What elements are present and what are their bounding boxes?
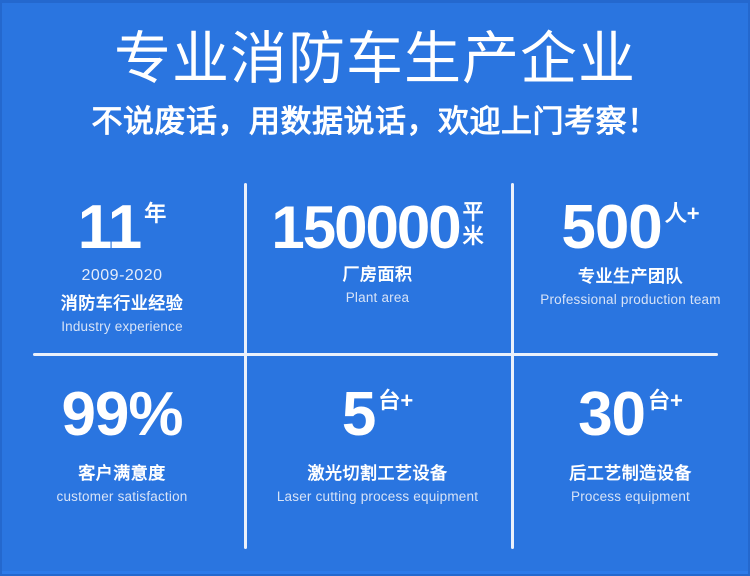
stat-cell-plant-area: 150000 平 米 厂房面积 Plant area — [244, 183, 511, 354]
stat-unit: 年 — [144, 202, 166, 225]
stat-unit: 平 米 — [463, 201, 484, 248]
stat-cell-industry-experience: 11 年 2009-2020 消防车行业经验 Industry experien… — [0, 183, 244, 354]
poster-header: 专业消防车生产企业 不说废话，用数据说话，欢迎上门考察！ — [0, 0, 750, 140]
stat-unit-line2: 米 — [463, 225, 484, 249]
stat-label-en: Process equipment — [571, 489, 690, 504]
stat-label-cn: 专业生产团队 — [578, 262, 683, 287]
stat-unit: 人+ — [665, 202, 700, 225]
stat-value: 11 — [78, 199, 142, 258]
stat-figure: 11 年 — [78, 199, 167, 258]
stat-label-cn: 后工艺制造设备 — [569, 459, 692, 484]
stat-label-cn: 消防车行业经验 — [61, 289, 184, 314]
stat-label-en: Laser cutting process equipment — [277, 489, 478, 504]
stat-label-en: Plant area — [346, 290, 410, 305]
stat-figure: 30 台+ — [578, 386, 683, 445]
stat-cell-customer-satisfaction: 99% 客户满意度 customer satisfaction — [0, 354, 244, 549]
stat-value: 500 — [561, 199, 661, 258]
promo-poster: 专业消防车生产企业 不说废话，用数据说话，欢迎上门考察！ 11 年 2009-2… — [0, 0, 750, 576]
bottom-edge-band — [0, 571, 750, 576]
stat-figure: 150000 平 米 — [271, 199, 483, 256]
stat-figure: 5 台+ — [342, 386, 413, 445]
stat-value: 150000 — [271, 199, 459, 256]
stat-label-en: customer satisfaction — [57, 489, 188, 504]
stat-value: 30 — [578, 386, 645, 445]
stat-figure: 500 人+ — [561, 199, 699, 258]
stat-unit: 台+ — [648, 389, 683, 412]
stat-note: 2009-2020 — [81, 267, 162, 285]
stat-figure: 99% — [61, 386, 182, 445]
stat-cell-production-team: 500 人+ 专业生产团队 Professional production te… — [511, 183, 750, 354]
stat-unit-line1: 平 — [463, 201, 484, 225]
stat-label-en: Industry experience — [61, 319, 183, 334]
stat-unit: 台+ — [378, 389, 413, 412]
stat-label-en: Professional production team — [540, 292, 720, 307]
stat-label-cn: 客户满意度 — [78, 459, 166, 484]
stat-value: 5 — [342, 386, 375, 445]
stat-cell-process-equipment: 30 台+ 后工艺制造设备 Process equipment — [511, 354, 750, 549]
stat-label-cn: 激光切割工艺设备 — [308, 459, 448, 484]
stat-cell-laser-cutting-equipment: 5 台+ 激光切割工艺设备 Laser cutting process equi… — [244, 354, 511, 549]
stats-grid: 11 年 2009-2020 消防车行业经验 Industry experien… — [0, 183, 750, 549]
page-subtitle: 不说废话，用数据说话，欢迎上门考察！ — [0, 103, 750, 140]
page-title: 专业消防车生产企业 — [0, 26, 750, 93]
stat-value: 99% — [61, 386, 182, 445]
stat-label-cn: 厂房面积 — [343, 260, 413, 285]
